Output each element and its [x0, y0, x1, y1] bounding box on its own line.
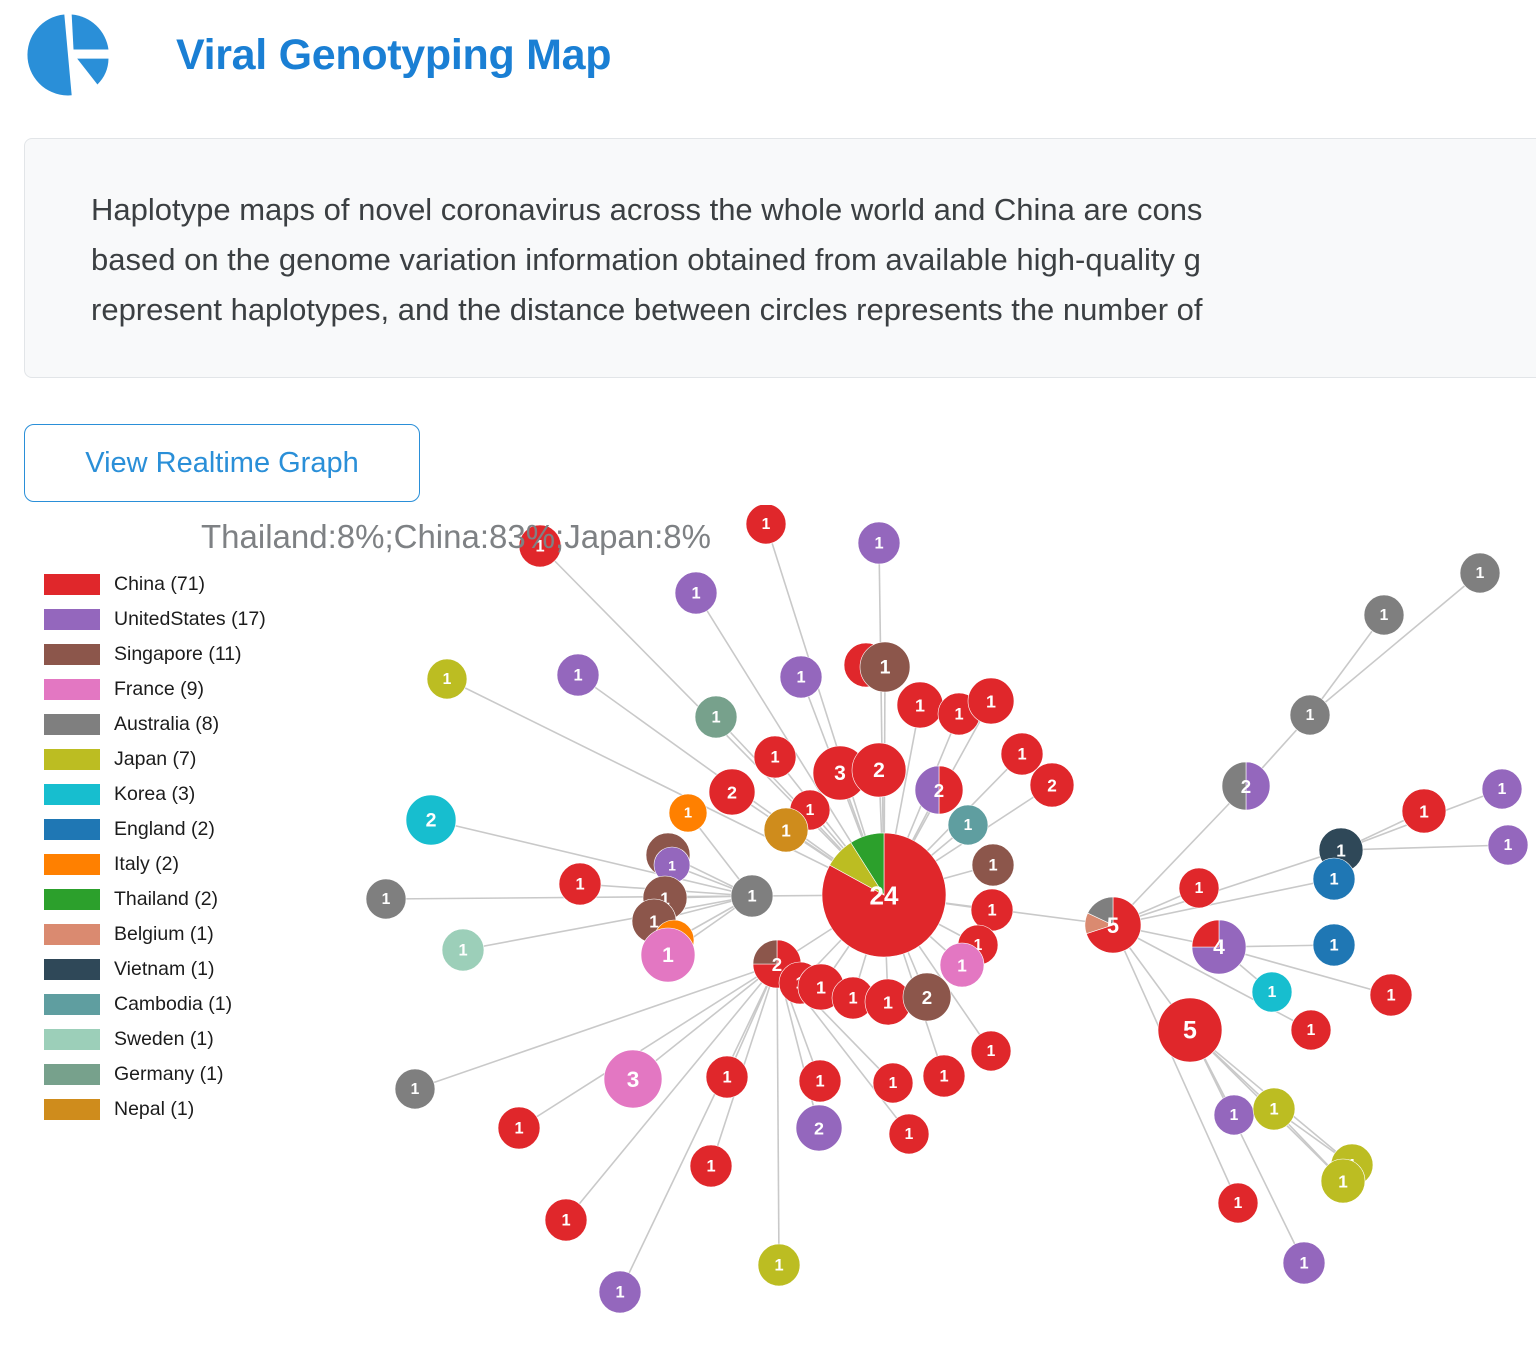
haplotype-node[interactable]: 1 — [1214, 1095, 1254, 1135]
node-slice — [758, 1244, 800, 1286]
node-slice — [860, 642, 910, 692]
legend-item-label: UnitedStates (17) — [114, 608, 266, 631]
legend-item-label: Singapore (11) — [114, 643, 242, 666]
node-slice — [442, 929, 484, 971]
legend-item[interactable]: England (2) — [44, 812, 314, 847]
node-slice — [366, 879, 406, 919]
haplotype-node[interactable]: 1 — [780, 656, 822, 698]
legend-item[interactable]: UnitedStates (17) — [44, 602, 314, 637]
node-slice — [753, 940, 777, 964]
node-slice — [903, 973, 951, 1021]
haplotype-node[interactable]: 2 — [915, 766, 963, 814]
node-slice — [1313, 924, 1355, 966]
network-edge — [1113, 879, 1334, 925]
haplotype-node[interactable]: 1 — [799, 1060, 841, 1102]
network-edge — [1113, 850, 1341, 925]
haplotype-node[interactable]: 4 — [1192, 920, 1246, 974]
haplotype-node[interactable]: 1 — [971, 889, 1013, 931]
node-slice — [889, 1114, 929, 1154]
legend-item-label: Belgium (1) — [114, 923, 214, 946]
node-slice — [971, 889, 1013, 931]
haplotype-node[interactable]: 1 — [731, 875, 773, 917]
legend-item[interactable]: France (9) — [44, 672, 314, 707]
node-slice — [1214, 1095, 1254, 1135]
legend-color-swatch — [44, 679, 100, 700]
description-line-3: represent haplotypes, and the distance b… — [91, 285, 1536, 335]
node-slice — [690, 1145, 732, 1187]
node-slice — [1313, 858, 1355, 900]
haplotype-node[interactable]: 1 — [1179, 868, 1219, 908]
node-slice — [754, 736, 796, 778]
haplotype-node[interactable]: 1 — [754, 736, 796, 778]
node-slice — [1402, 789, 1446, 833]
haplotype-node[interactable]: 1 — [1482, 769, 1522, 809]
haplotype-node[interactable]: 1 — [873, 1063, 913, 1103]
haplotype-node[interactable]: 1 — [1218, 1183, 1258, 1223]
haplotype-node[interactable]: 1 — [1253, 1088, 1295, 1130]
haplotype-node[interactable]: 24 — [822, 833, 946, 957]
haplotype-node[interactable]: 1 — [1488, 825, 1528, 865]
node-slice — [923, 1055, 965, 1097]
legend-item[interactable]: Belgium (1) — [44, 917, 314, 952]
node-slice — [780, 656, 822, 698]
legend-item-label: Nepal (1) — [114, 1098, 194, 1121]
legend-item-label: Australia (8) — [114, 713, 219, 736]
haplotype-node[interactable]: 1 — [557, 654, 599, 696]
haplotype-node[interactable]: 1 — [1364, 595, 1404, 635]
haplotype-node[interactable]: 1 — [1252, 972, 1292, 1012]
legend-item-label: Italy (2) — [114, 853, 179, 876]
haplotype-node[interactable]: 1 — [1321, 1159, 1365, 1203]
haplotype-node[interactable]: 1 — [1283, 1242, 1325, 1284]
node-slice — [599, 1271, 641, 1313]
legend-item[interactable]: China (71) — [44, 567, 314, 602]
node-slice — [852, 743, 906, 797]
node-slice — [675, 572, 717, 614]
node-slice — [746, 505, 786, 544]
haplotype-node[interactable]: 1 — [498, 1107, 540, 1149]
haplotype-node[interactable]: 1 — [968, 678, 1014, 724]
legend-item[interactable]: Italy (2) — [44, 847, 314, 882]
haplotype-node[interactable]: 1 — [889, 1114, 929, 1154]
haplotype-node[interactable]: 2 — [1222, 762, 1270, 810]
description-line-1: Haplotype maps of novel coronavirus acro… — [91, 185, 1536, 235]
haplotype-node[interactable]: 1 — [948, 805, 988, 845]
node-slice — [519, 525, 561, 567]
node-slice — [972, 844, 1014, 886]
legend-color-swatch — [44, 994, 100, 1015]
haplotype-node[interactable]: 1 — [1402, 789, 1446, 833]
legend-item[interactable]: Thailand (2) — [44, 882, 314, 917]
legend-color-swatch — [44, 1029, 100, 1050]
legend-item-label: Japan (7) — [114, 748, 196, 771]
node-slice — [641, 928, 695, 982]
node-slice — [971, 1031, 1011, 1071]
node-slice — [1218, 1183, 1258, 1223]
node-slice — [915, 766, 939, 814]
node-slice — [731, 875, 773, 917]
node-slice — [545, 1199, 587, 1241]
haplotype-node[interactable]: 2 — [796, 1105, 842, 1151]
legend-item[interactable]: Cambodia (1) — [44, 987, 314, 1022]
network-edge — [1310, 573, 1480, 715]
node-slice — [799, 1060, 841, 1102]
legend-color-swatch — [44, 959, 100, 980]
haplotype-node[interactable]: 1 — [545, 1199, 587, 1241]
haplotype-node[interactable]: 1 — [366, 879, 406, 919]
haplotype-node[interactable]: 1 — [860, 642, 910, 692]
legend-color-swatch — [44, 854, 100, 875]
haplotype-node[interactable]: 1 — [641, 928, 695, 982]
legend-color-swatch — [44, 609, 100, 630]
legend-item[interactable]: Nepal (1) — [44, 1092, 314, 1127]
haplotype-node[interactable]: 1 — [690, 1145, 732, 1187]
node-slice — [1252, 972, 1292, 1012]
node-slice — [1364, 595, 1404, 635]
node-slice — [1283, 1242, 1325, 1284]
legend: China (71)UnitedStates (17)Singapore (11… — [44, 567, 314, 1127]
haplotype-node[interactable]: 2 — [406, 795, 456, 845]
node-slice — [1488, 825, 1528, 865]
node-slice — [1179, 868, 1219, 908]
haplotype-node[interactable]: 1 — [706, 1056, 748, 1098]
node-slice — [796, 1105, 842, 1151]
legend-color-swatch — [44, 749, 100, 770]
app-header: Viral Genotyping Map — [0, 0, 1536, 110]
node-slice — [1246, 762, 1270, 810]
haplotype-node[interactable]: 1 — [1001, 733, 1043, 775]
node-slice — [1370, 974, 1412, 1016]
node-slice — [940, 943, 984, 987]
node-slice — [669, 794, 707, 832]
haplotype-node[interactable]: 2 — [1030, 763, 1074, 807]
legend-color-swatch — [44, 714, 100, 735]
legend-color-swatch — [44, 784, 100, 805]
haplotype-node[interactable]: 2 — [852, 743, 906, 797]
haplotype-node[interactable]: 1 — [675, 572, 717, 614]
haplotype-node[interactable]: 1 — [746, 505, 786, 544]
node-slice — [695, 696, 737, 738]
legend-item-label: England (2) — [114, 818, 215, 841]
node-slice — [873, 1063, 913, 1103]
node-slice — [604, 1050, 662, 1108]
legend-color-swatch — [44, 1099, 100, 1120]
haplotype-node[interactable]: 1 — [1313, 924, 1355, 966]
legend-item[interactable]: Germany (1) — [44, 1057, 314, 1092]
haplotype-node[interactable]: 1 — [923, 1055, 965, 1097]
haplotype-node[interactable]: 5 — [1158, 998, 1222, 1062]
haplotype-node[interactable]: 5 — [1085, 897, 1141, 953]
network-edge — [1113, 786, 1246, 925]
haplotype-node[interactable]: 1 — [758, 1244, 800, 1286]
legend-color-swatch — [44, 574, 100, 595]
haplotype-node[interactable]: 1 — [972, 844, 1014, 886]
haplotype-node[interactable]: 1 — [1370, 974, 1412, 1016]
node-slice — [764, 808, 808, 852]
legend-item[interactable]: Australia (8) — [44, 707, 314, 742]
description-text: Haplotype maps of novel coronavirus acro… — [91, 185, 1536, 335]
network-edge — [1341, 845, 1508, 850]
haplotype-node[interactable]: 1 — [1291, 1010, 1331, 1050]
node-slice — [1030, 763, 1074, 807]
node-slice — [948, 805, 988, 845]
legend-item-label: China (71) — [114, 573, 205, 596]
haplotype-node[interactable]: 2 — [903, 973, 951, 1021]
node-slice — [1482, 769, 1522, 809]
node-slice — [406, 795, 456, 845]
node-slice — [968, 678, 1014, 724]
haplotype-node[interactable]: 3 — [604, 1050, 662, 1108]
legend-item-label: Sweden (1) — [114, 1028, 214, 1051]
node-slice — [1192, 920, 1219, 947]
haplotype-node[interactable]: 1 — [519, 525, 561, 567]
legend-color-swatch — [44, 819, 100, 840]
node-slice — [897, 682, 943, 728]
legend-item-label: Korea (3) — [114, 783, 195, 806]
node-slice — [706, 1056, 748, 1098]
haplotype-node[interactable]: 1 — [695, 696, 737, 738]
node-slice — [709, 769, 755, 815]
legend-item-label: Thailand (2) — [114, 888, 218, 911]
node-slice — [1158, 998, 1222, 1062]
haplotype-network-graph[interactable]: 2411111111111111111121232221121111111111… — [0, 505, 1536, 1370]
node-slice — [427, 659, 467, 699]
node-slice — [395, 1069, 435, 1109]
haplotype-node[interactable]: 1 — [1460, 553, 1500, 593]
haplotype-node[interactable]: 2 — [709, 769, 755, 815]
network-edge — [463, 896, 752, 950]
node-slice — [498, 1107, 540, 1149]
legend-item-label: Cambodia (1) — [114, 993, 232, 1016]
node-slice — [1222, 762, 1246, 810]
node-slice — [1290, 695, 1330, 735]
legend-item-label: Germany (1) — [114, 1063, 223, 1086]
network-edge — [777, 964, 779, 1265]
haplotype-node[interactable]: 1 — [395, 1069, 435, 1109]
haplotype-node[interactable]: 1 — [971, 1031, 1011, 1071]
haplotype-node[interactable]: 1 — [427, 659, 467, 699]
legend-item[interactable]: Japan (7) — [44, 742, 314, 777]
haplotype-node[interactable]: 1 — [669, 794, 707, 832]
legend-item-label: Vietnam (1) — [114, 958, 214, 981]
network-edge — [1190, 1030, 1304, 1263]
pie-chart-icon — [22, 9, 114, 101]
node-slice — [1291, 1010, 1331, 1050]
legend-color-swatch — [44, 924, 100, 945]
legend-item[interactable]: Vietnam (1) — [44, 952, 314, 987]
node-slice — [557, 654, 599, 696]
node-slice — [1460, 553, 1500, 593]
node-layer[interactable]: 2411111111111111111121232221121111111111… — [366, 505, 1528, 1313]
haplotype-node[interactable]: 1 — [897, 682, 943, 728]
page-title: Viral Genotyping Map — [176, 31, 611, 80]
legend-color-swatch — [44, 889, 100, 910]
legend-item[interactable]: Singapore (11) — [44, 637, 314, 672]
haplotype-node[interactable]: 1 — [858, 522, 900, 564]
haplotype-node[interactable]: 1 — [1313, 858, 1355, 900]
legend-color-swatch — [44, 1064, 100, 1085]
description-panel: Haplotype maps of novel coronavirus acro… — [24, 138, 1536, 378]
haplotype-node[interactable]: 1 — [940, 943, 984, 987]
legend-color-swatch — [44, 644, 100, 665]
haplotype-node[interactable]: 1 — [764, 808, 808, 852]
view-realtime-graph-button[interactable]: View Realtime Graph — [24, 424, 420, 502]
haplotype-node[interactable]: 1 — [1290, 695, 1330, 735]
description-line-2: based on the genome variation informatio… — [91, 235, 1536, 285]
network-edge — [566, 964, 777, 1220]
legend-item-label: France (9) — [114, 678, 204, 701]
node-slice — [1001, 733, 1043, 775]
node-slice — [858, 522, 900, 564]
haplotype-node[interactable]: 1 — [559, 863, 601, 905]
haplotype-node[interactable]: 1 — [599, 1271, 641, 1313]
legend-item[interactable]: Korea (3) — [44, 777, 314, 812]
legend-item[interactable]: Sweden (1) — [44, 1022, 314, 1057]
node-slice — [1321, 1159, 1365, 1203]
node-slice — [1253, 1088, 1295, 1130]
node-slice — [559, 863, 601, 905]
haplotype-node[interactable]: 1 — [442, 929, 484, 971]
